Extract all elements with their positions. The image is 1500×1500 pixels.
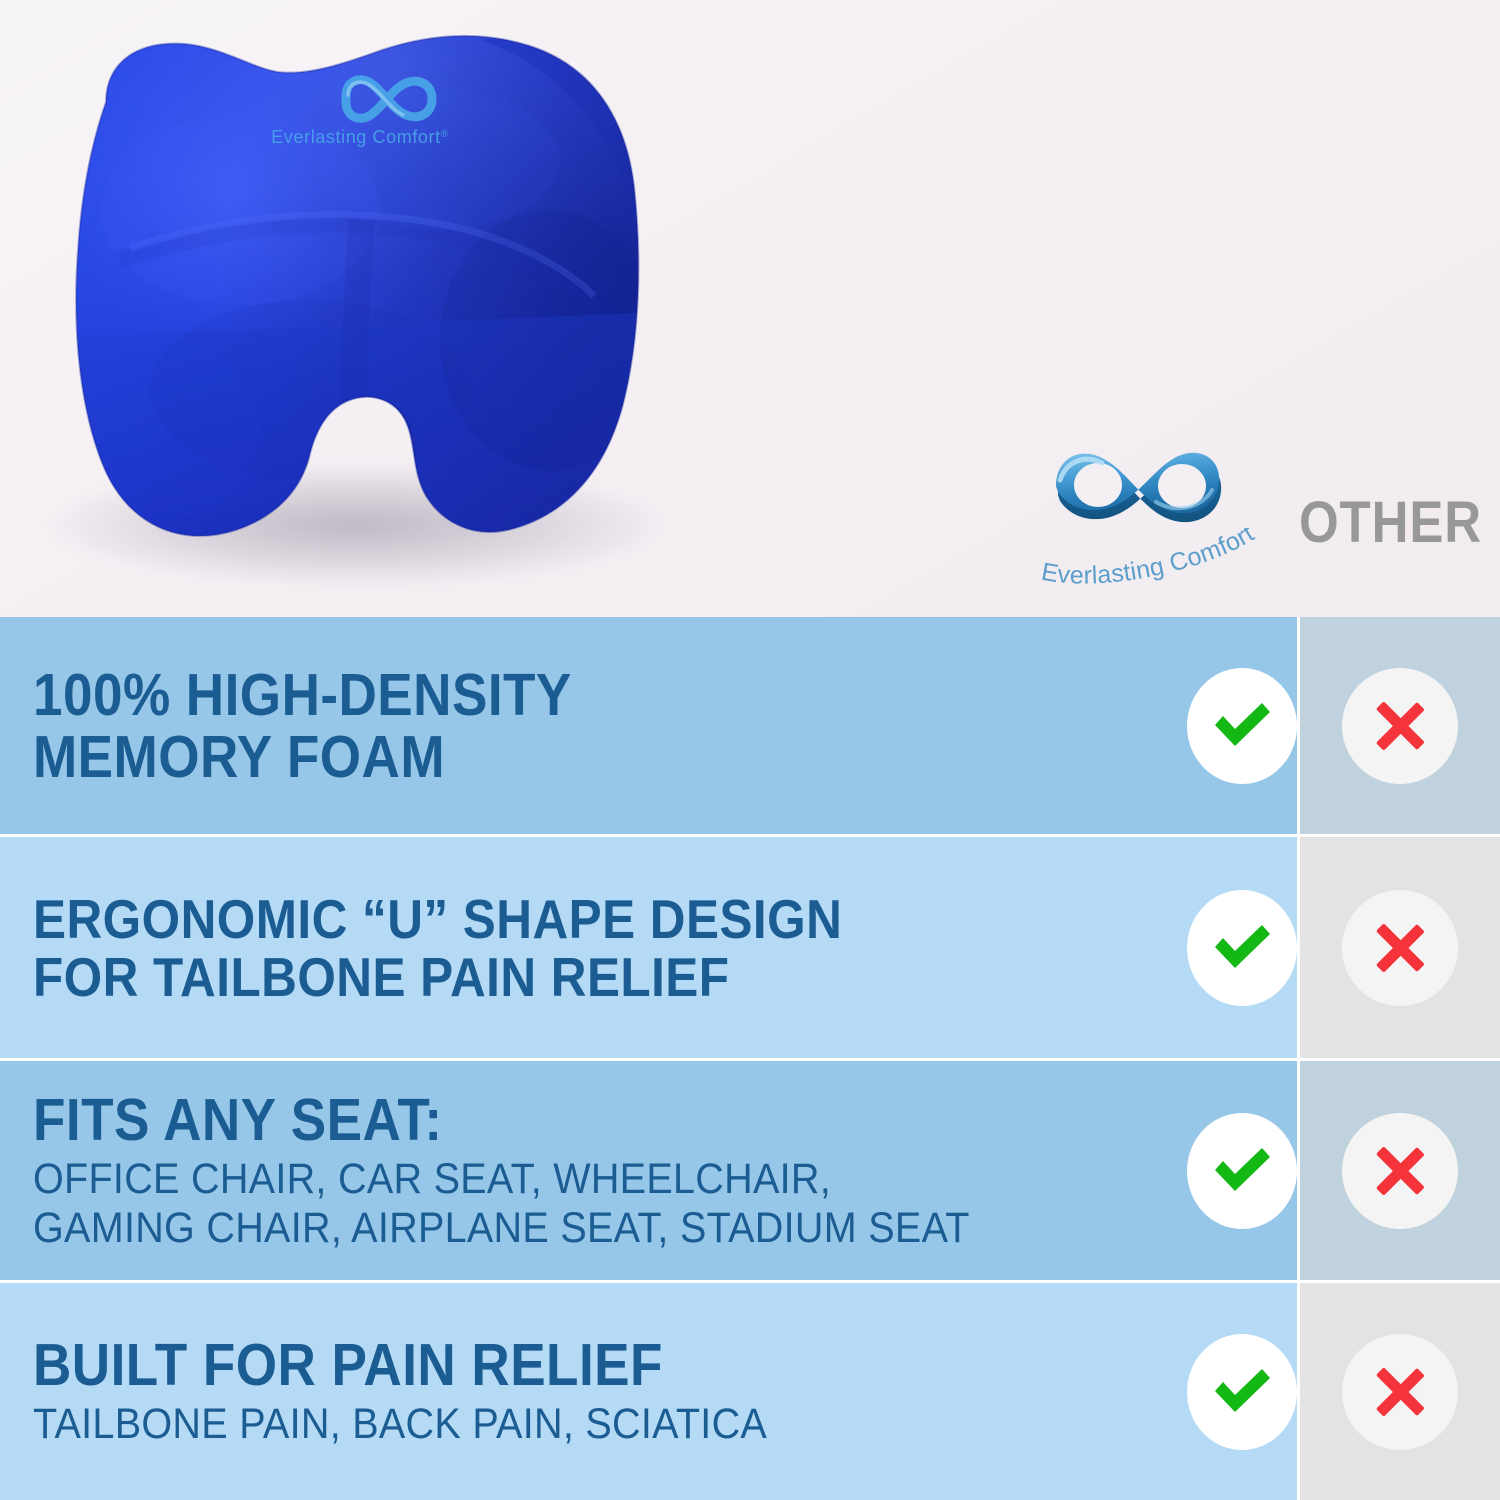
check-badge [1187, 1334, 1297, 1450]
table-row: BUILT FOR PAIN RELIEF TAILBONE PAIN, BAC… [0, 1280, 1500, 1500]
brand-mark-cell [1187, 617, 1297, 834]
feature-title: BUILT FOR PAIN RELIEF [33, 1334, 1053, 1396]
brand-column-header: Everlasting Comfort® [1022, 440, 1278, 590]
svg-text:Everlasting Comfort®: Everlasting Comfort® [1022, 528, 1259, 588]
infinity-icon [1036, 440, 1264, 536]
brand-mark-cell [1187, 1280, 1297, 1500]
check-icon [1205, 1355, 1279, 1429]
check-badge [1187, 1113, 1297, 1229]
brand-wordmark: Everlasting Comfort® [1022, 528, 1278, 588]
table-row: 100% HIGH-DENSITY MEMORY FOAM [0, 617, 1500, 834]
cross-icon [1367, 915, 1433, 981]
feature-title: FITS ANY SEAT: [33, 1089, 1053, 1151]
check-badge [1187, 890, 1297, 1006]
seat-cushion-illustration: Everlasting Comfort® [10, 10, 710, 610]
cross-icon [1367, 1359, 1433, 1425]
comparison-table: 100% HIGH-DENSITY MEMORY FOAM [0, 617, 1500, 1500]
cross-badge [1342, 1334, 1458, 1450]
brand-mark-cell [1187, 1058, 1297, 1280]
feature-cell: ERGONOMIC “U” SHAPE DESIGN FOR TAILBONE … [0, 834, 1187, 1058]
cross-badge [1342, 890, 1458, 1006]
check-badge [1187, 668, 1297, 784]
feature-title: 100% HIGH-DENSITY MEMORY FOAM [33, 664, 1053, 788]
table-row: ERGONOMIC “U” SHAPE DESIGN FOR TAILBONE … [0, 834, 1500, 1058]
cross-icon [1367, 693, 1433, 759]
check-icon [1205, 1134, 1279, 1208]
cross-badge [1342, 1113, 1458, 1229]
other-mark-cell [1297, 1058, 1500, 1280]
feature-subtitle: OFFICE CHAIR, CAR SEAT, WHEELCHAIR, GAMI… [33, 1155, 1076, 1253]
product-image: Everlasting Comfort® [10, 10, 710, 610]
other-mark-cell [1297, 834, 1500, 1058]
feature-subtitle: TAILBONE PAIN, BACK PAIN, SCIATICA [33, 1400, 1076, 1449]
other-column-header: OTHER [1294, 492, 1487, 554]
other-mark-cell [1297, 1280, 1500, 1500]
hero-header: Everlasting Comfort® [0, 0, 1500, 617]
brand-mark-cell [1187, 834, 1297, 1058]
embossed-brand-text: Everlasting Comfort® [271, 127, 448, 147]
table-row: FITS ANY SEAT: OFFICE CHAIR, CAR SEAT, W… [0, 1058, 1500, 1280]
brand-wordmark-text: Everlasting Comfort® [1022, 528, 1259, 588]
product-comparison-infographic: Everlasting Comfort® [0, 0, 1500, 1500]
feature-cell: FITS ANY SEAT: OFFICE CHAIR, CAR SEAT, W… [0, 1058, 1187, 1280]
check-icon [1205, 689, 1279, 763]
cross-icon [1367, 1138, 1433, 1204]
cross-badge [1342, 668, 1458, 784]
feature-title: ERGONOMIC “U” SHAPE DESIGN FOR TAILBONE … [33, 890, 1053, 1006]
check-icon [1205, 911, 1279, 985]
feature-cell: BUILT FOR PAIN RELIEF TAILBONE PAIN, BAC… [0, 1280, 1187, 1500]
feature-cell: 100% HIGH-DENSITY MEMORY FOAM [0, 617, 1187, 834]
other-mark-cell [1297, 617, 1500, 834]
